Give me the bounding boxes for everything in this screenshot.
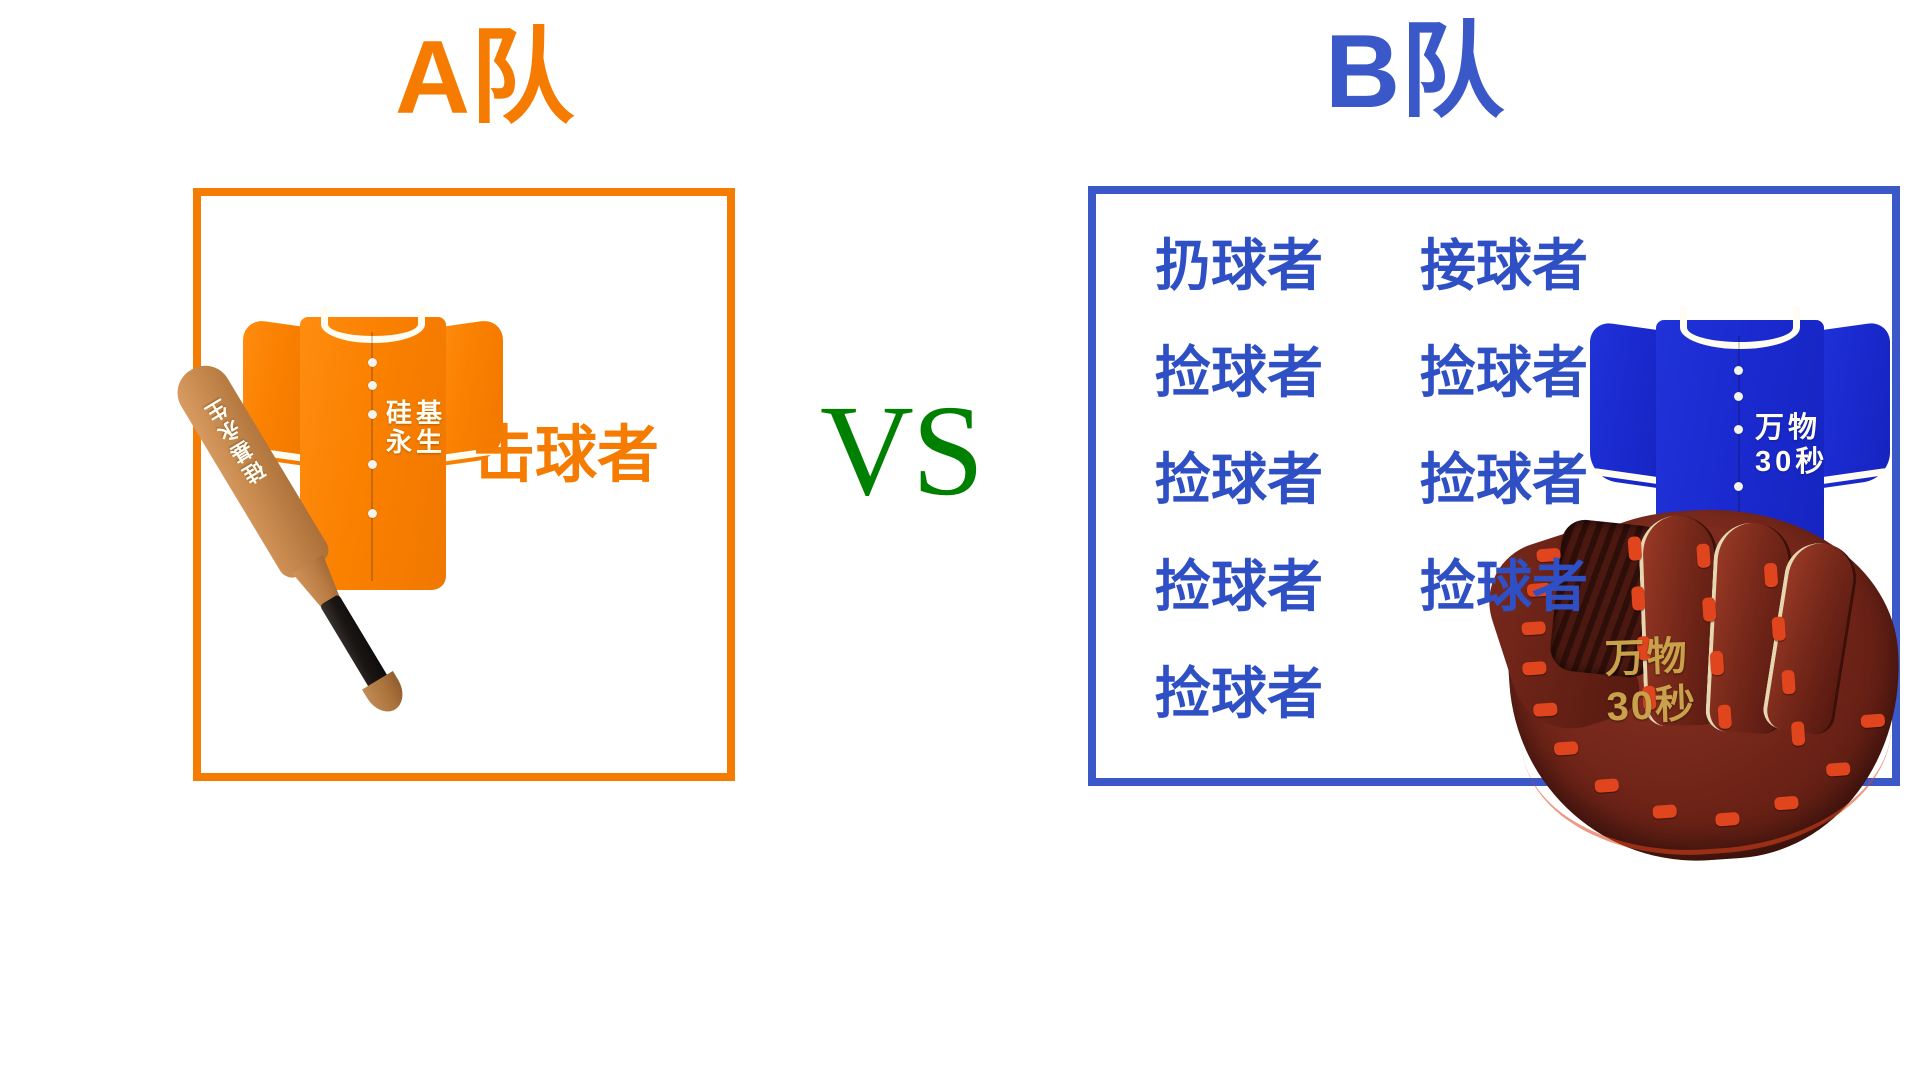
- jersey-button: [368, 509, 377, 518]
- versus-label: VS: [820, 386, 982, 516]
- team-b-role-fetcher: 捡球者: [1420, 559, 1685, 615]
- jersey-button: [368, 358, 377, 367]
- team-b-role-fetcher: 捡球者: [1155, 559, 1420, 615]
- jersey-button: [368, 460, 377, 469]
- jersey-button: [368, 410, 377, 419]
- role-row: 捡球者 捡球者: [1155, 559, 1795, 666]
- team-b-role-thrower: 扔球者: [1155, 238, 1420, 294]
- role-row: 捡球者: [1155, 666, 1795, 773]
- team-b-role-grid: 扔球者 接球者 捡球者 捡球者 捡球者 捡球者 捡球者 捡球者 捡球者: [1155, 238, 1795, 773]
- jersey-placket: [371, 332, 373, 581]
- team-b-role-fetcher: 捡球者: [1420, 345, 1685, 401]
- team-b-role-catcher: 接球者: [1420, 238, 1685, 294]
- role-row: 捡球者 捡球者: [1155, 452, 1795, 559]
- team-a-jersey-text: 硅基 永生: [386, 399, 446, 459]
- team-b-title: B队: [1325, 20, 1504, 124]
- role-row: 捡球者 捡球者: [1155, 345, 1795, 452]
- team-b-role-fetcher: 捡球者: [1155, 345, 1420, 401]
- role-row: 扔球者 接球者: [1155, 238, 1795, 345]
- team-a-role-batter: 击球者: [473, 425, 659, 487]
- jersey-button: [368, 381, 377, 390]
- team-b-role-fetcher: 捡球者: [1420, 452, 1685, 508]
- team-a-title: A队: [395, 26, 574, 130]
- team-b-role-fetcher: 捡球者: [1155, 666, 1420, 722]
- team-b-role-fetcher: 捡球者: [1155, 452, 1420, 508]
